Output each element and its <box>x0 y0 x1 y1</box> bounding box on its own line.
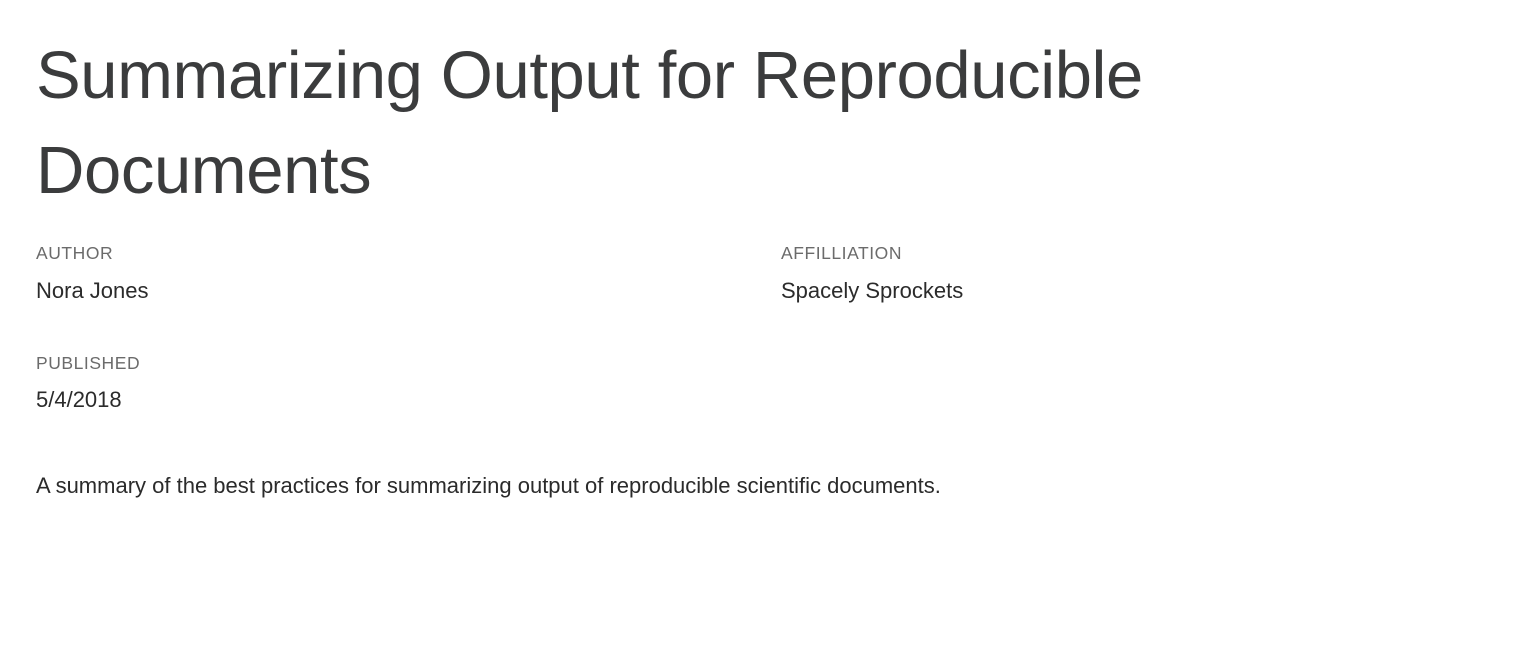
article-abstract: A summary of the best practices for summ… <box>36 469 1376 502</box>
article-header: Summarizing Output for Reproducible Docu… <box>0 0 1528 502</box>
article-metadata-grid: AUTHOR Nora Jones AFFILLIATION Spacely S… <box>36 242 1376 415</box>
metadata-field-author: AUTHOR Nora Jones <box>36 242 781 305</box>
metadata-field-affilliation: AFFILLIATION Spacely Sprockets <box>781 242 1376 305</box>
metadata-value-author: Nora Jones <box>36 276 781 306</box>
title-block-header: Summarizing Output for Reproducible Docu… <box>36 0 1492 415</box>
metadata-label-published: PUBLISHED <box>36 352 781 375</box>
metadata-label-author: AUTHOR <box>36 242 781 265</box>
metadata-value-published: 5/4/2018 <box>36 385 781 415</box>
metadata-value-affilliation: Spacely Sprockets <box>781 276 1376 306</box>
metadata-field-empty <box>781 352 1376 415</box>
page-title: Summarizing Output for Reproducible Docu… <box>36 28 1326 218</box>
metadata-field-published: PUBLISHED 5/4/2018 <box>36 352 781 415</box>
abstract-text: A summary of the best practices for summ… <box>36 469 1376 502</box>
metadata-label-affilliation: AFFILLIATION <box>781 242 1376 265</box>
